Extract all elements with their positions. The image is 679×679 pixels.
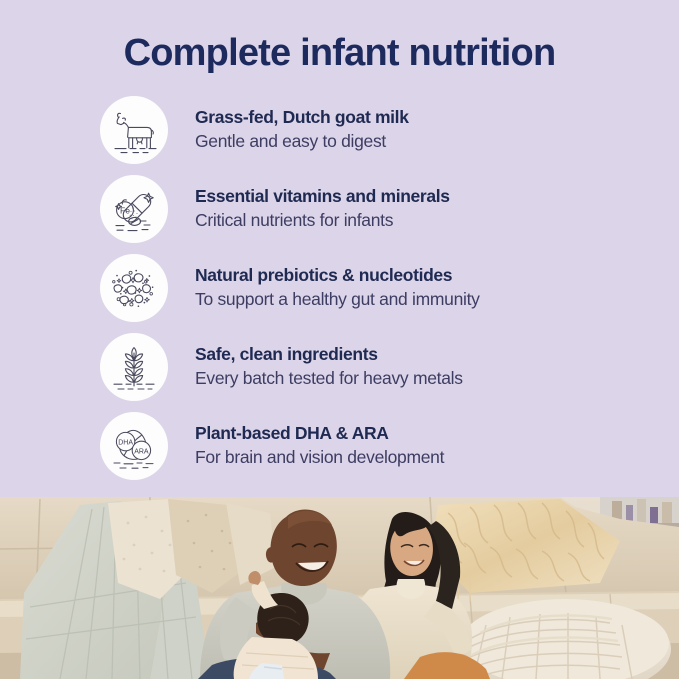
feature-list: Grass-fed, Dutch goat milk Gentle and ea… [100,96,620,491]
icon-badge: Fe [100,175,168,243]
ara-icon-label: ARA [134,448,149,455]
vitamin-pills-icon: Fe [100,175,168,243]
feature-subtitle: Every batch tested for heavy metals [195,366,463,390]
feature-title: Plant-based DHA & ARA [195,422,444,445]
feature-subtitle: Gentle and easy to digest [195,129,409,153]
feature-row-clean-ingredients: Safe, clean ingredients Every batch test… [100,333,620,412]
feature-title: Essential vitamins and minerals [195,185,450,208]
feature-title: Grass-fed, Dutch goat milk [195,106,409,129]
icon-badge [100,333,168,401]
feature-title: Safe, clean ingredients [195,343,463,366]
infographic-panel: Complete infant nutrition [0,0,679,679]
probiotic-bacteria-icon [100,254,168,322]
feature-subtitle: Critical nutrients for infants [195,208,450,232]
feature-subtitle: For brain and vision development [195,445,444,469]
dha-icon-label: DHA [118,440,133,447]
icon-badge [100,96,168,164]
dha-ara-icon: DHA ARA [100,412,168,480]
feature-text: Safe, clean ingredients Every batch test… [195,333,463,390]
feature-text: Plant-based DHA & ARA For brain and visi… [195,412,444,469]
feature-title: Natural prebiotics & nucleotides [195,264,480,287]
family-lifestyle-photo [0,497,679,679]
feature-text: Essential vitamins and minerals Critical… [195,175,450,232]
icon-badge [100,254,168,322]
goat-icon [100,96,168,164]
page-title: Complete infant nutrition [0,30,679,76]
wheat-stalk-icon [100,333,168,401]
family-photo-illustration [0,497,679,679]
feature-text: Grass-fed, Dutch goat milk Gentle and ea… [195,96,409,153]
feature-row-dha-ara: DHA ARA Plant [100,412,620,491]
vitamin-icon-label: Fe [120,206,130,216]
feature-row-prebiotics: Natural prebiotics & nucleotides To supp… [100,254,620,333]
feature-row-goat-milk: Grass-fed, Dutch goat milk Gentle and ea… [100,96,620,175]
feature-row-vitamins: Fe Essential vitamins and minerals Criti… [100,175,620,254]
feature-text: Natural prebiotics & nucleotides To supp… [195,254,480,311]
feature-subtitle: To support a healthy gut and immunity [195,287,480,311]
icon-badge: DHA ARA [100,412,168,480]
